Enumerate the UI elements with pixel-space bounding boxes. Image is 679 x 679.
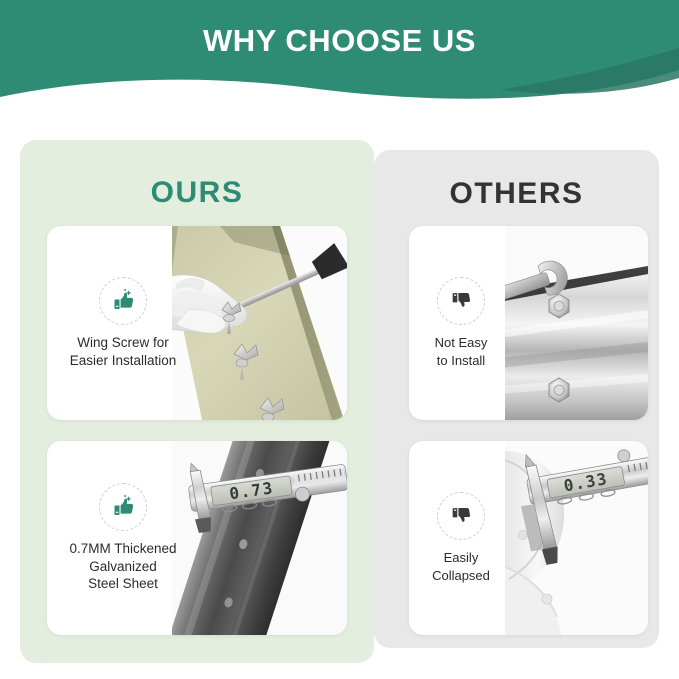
card-ours-steel-thickness: 0.73 (47, 441, 347, 635)
panel-ours-heading: OURS (20, 176, 374, 210)
page-title: WHY CHOOSE US (0, 23, 679, 59)
page-header: WHY CHOOSE US (0, 0, 679, 103)
thumbs-up-icon (99, 483, 147, 531)
card-ours-wing-screw-text: Wing Screw for Easier Installation (47, 226, 199, 420)
card-others-hard-install-text: Not Easy to Install (409, 226, 513, 420)
card-ours-steel-thickness-text: 0.7MM Thickened Galvanized Steel Sheet (47, 441, 199, 635)
card-others-easily-collapsed-text: Easily Collapsed (409, 441, 513, 635)
card-others-hard-install: Not Easy to Install (409, 226, 648, 420)
card-others-hard-install-label: Not Easy to Install (429, 334, 494, 368)
panel-others-heading: OTHERS (374, 177, 659, 211)
card-others-easily-collapsed-label: Easily Collapsed (426, 549, 496, 583)
card-others-easily-collapsed: 0.33 (409, 441, 648, 635)
thumbs-down-icon (437, 492, 485, 540)
card-ours-wing-screw: Wing Screw for Easier Installation (47, 226, 347, 420)
thumbs-down-icon (437, 277, 485, 325)
caliper-measuring-plastic-gutter-photo: 0.33 (505, 441, 648, 635)
thumbs-up-icon (99, 277, 147, 325)
wrench-tightening-bolts-photo (505, 226, 648, 420)
card-ours-wing-screw-label: Wing Screw for Easier Installation (64, 334, 183, 370)
card-ours-steel-thickness-label: 0.7MM Thickened Galvanized Steel Sheet (63, 540, 182, 593)
